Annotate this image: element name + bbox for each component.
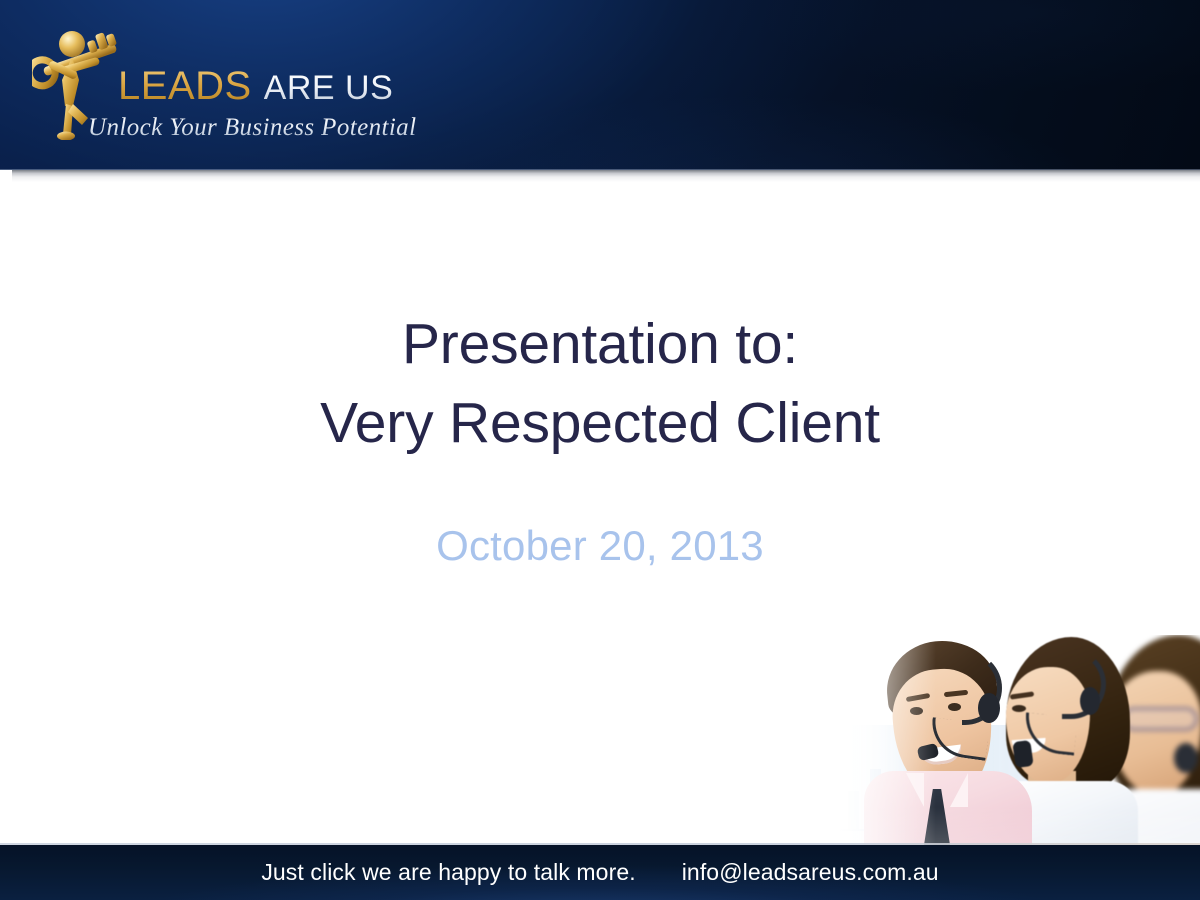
- agent-collar-right: [950, 773, 968, 807]
- agent-headset-earpad: [1174, 743, 1198, 773]
- footer-bar: Just click we are happy to talk more. in…: [0, 845, 1200, 900]
- footer-email-link[interactable]: info@leadsareus.com.au: [682, 859, 939, 886]
- footer-cta-text[interactable]: Just click we are happy to talk more.: [261, 859, 635, 886]
- agent-headset-earpad: [978, 693, 1000, 723]
- agent-front-male: [858, 635, 1033, 845]
- agent-collar-left: [906, 773, 924, 807]
- header-drop-shadow: [12, 170, 1200, 182]
- slide-title: Presentation to: Very Respected Client: [0, 305, 1200, 462]
- brand-name-secondary: ARE US: [264, 69, 394, 107]
- brand-wordmark: LEADSARE US: [118, 66, 393, 106]
- slide-date: October 20, 2013: [0, 522, 1200, 570]
- brand-logo[interactable]: LEADSARE US Unlock Your Business Potenti…: [32, 18, 412, 148]
- title-line-1: Presentation to:: [0, 305, 1200, 384]
- header-hairline: [0, 169, 1200, 170]
- call-center-team-photo: [800, 635, 1200, 845]
- presentation-slide: LEADSARE US Unlock Your Business Potenti…: [0, 0, 1200, 900]
- agent-headset-earpad: [1080, 687, 1100, 715]
- photo-canvas: [800, 635, 1200, 845]
- brand-tagline: Unlock Your Business Potential: [88, 114, 416, 142]
- title-line-2: Very Respected Client: [0, 384, 1200, 463]
- header-banner: LEADSARE US Unlock Your Business Potenti…: [0, 0, 1200, 170]
- brand-name-primary: LEADS: [118, 64, 252, 108]
